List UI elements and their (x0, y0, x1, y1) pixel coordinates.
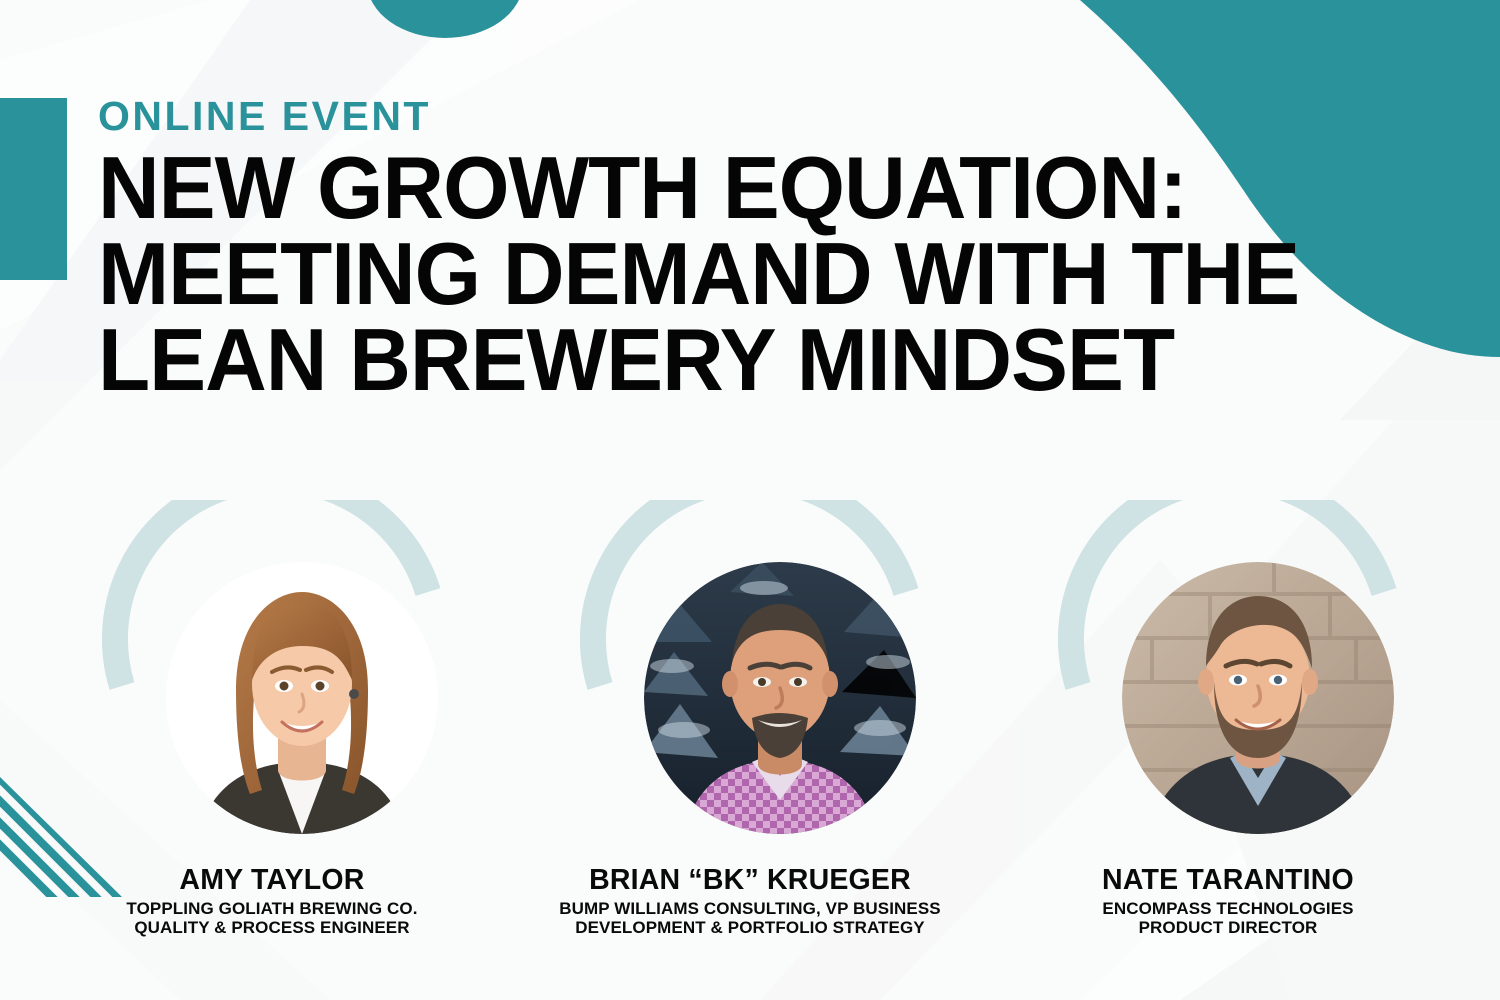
speaker-name: AMY TAYLOR (179, 866, 364, 896)
speaker-role-line-2: QUALITY & PROCESS ENGINEER (134, 918, 409, 937)
portrait-brian-krueger (644, 562, 916, 834)
speaker-name: BRIAN “BK” KRUEGER (589, 866, 911, 896)
speaker-role: TOPPLING GOLIATH BREWING CO. QUALITY & P… (126, 899, 417, 938)
event-type-eyebrow: ONLINE EVENT (98, 96, 1418, 137)
teal-bar-decoration (0, 98, 67, 280)
avatar (644, 562, 916, 834)
speakers-row: AMY TAYLOR TOPPLING GOLIATH BREWING CO. … (0, 500, 1500, 1000)
speaker-role: ENCOMPASS TECHNOLOGIES PRODUCT DIRECTOR (1102, 899, 1353, 938)
speaker-role-line-2: PRODUCT DIRECTOR (1139, 918, 1318, 937)
avatar (1122, 562, 1394, 834)
speaker-role: BUMP WILLIAMS CONSULTING, VP BUSINESS DE… (559, 899, 941, 938)
page-title-line-2: MEETING DEMAND WITH THE (98, 231, 1378, 317)
avatar (166, 562, 438, 834)
portrait-nate-tarantino (1122, 562, 1394, 834)
portrait-wrapper (98, 500, 446, 852)
headline-block: ONLINE EVENT NEW GROWTH EQUATION: MEETIN… (98, 96, 1418, 404)
portrait-wrapper (1054, 500, 1402, 852)
page-title-line-1: NEW GROWTH EQUATION: (98, 145, 1378, 231)
portrait-amy-taylor (166, 562, 438, 834)
speaker-card-brian-krueger: BRIAN “BK” KRUEGER BUMP WILLIAMS CONSULT… (530, 500, 970, 938)
speaker-role-line-2: DEVELOPMENT & PORTFOLIO STRATEGY (575, 918, 925, 937)
page-title-line-3: LEAN BREWERY MINDSET (98, 317, 1378, 403)
portrait-wrapper (576, 500, 924, 852)
speaker-card-nate-tarantino: NATE TARANTINO ENCOMPASS TECHNOLOGIES PR… (1008, 500, 1448, 938)
speaker-role-line-1: BUMP WILLIAMS CONSULTING, VP BUSINESS (559, 899, 941, 918)
speaker-name: NATE TARANTINO (1102, 866, 1354, 896)
speaker-role-line-1: TOPPLING GOLIATH BREWING CO. (126, 899, 417, 918)
speaker-card-amy-taylor: AMY TAYLOR TOPPLING GOLIATH BREWING CO. … (52, 500, 492, 938)
speaker-role-line-1: ENCOMPASS TECHNOLOGIES (1102, 899, 1353, 918)
event-promo-poster: ONLINE EVENT NEW GROWTH EQUATION: MEETIN… (0, 0, 1500, 1000)
